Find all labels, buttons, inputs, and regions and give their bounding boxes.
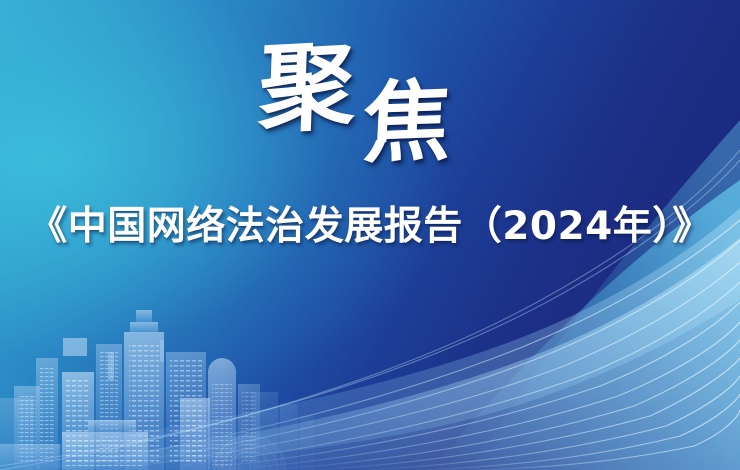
report-title: 《中国网络法治发展报告（2024年）》 (28, 206, 712, 249)
promo-banner: 聚 焦 《中国网络法治发展报告（2024年）》 (0, 0, 740, 470)
banner-title-row: 《中国网络法治发展报告（2024年）》 (0, 206, 740, 249)
calligraphy-char-jiao: 焦 (361, 76, 454, 167)
calligraphy-char-ju: 聚 (257, 38, 357, 139)
calligraphy-kicker: 聚 焦 (0, 34, 740, 184)
